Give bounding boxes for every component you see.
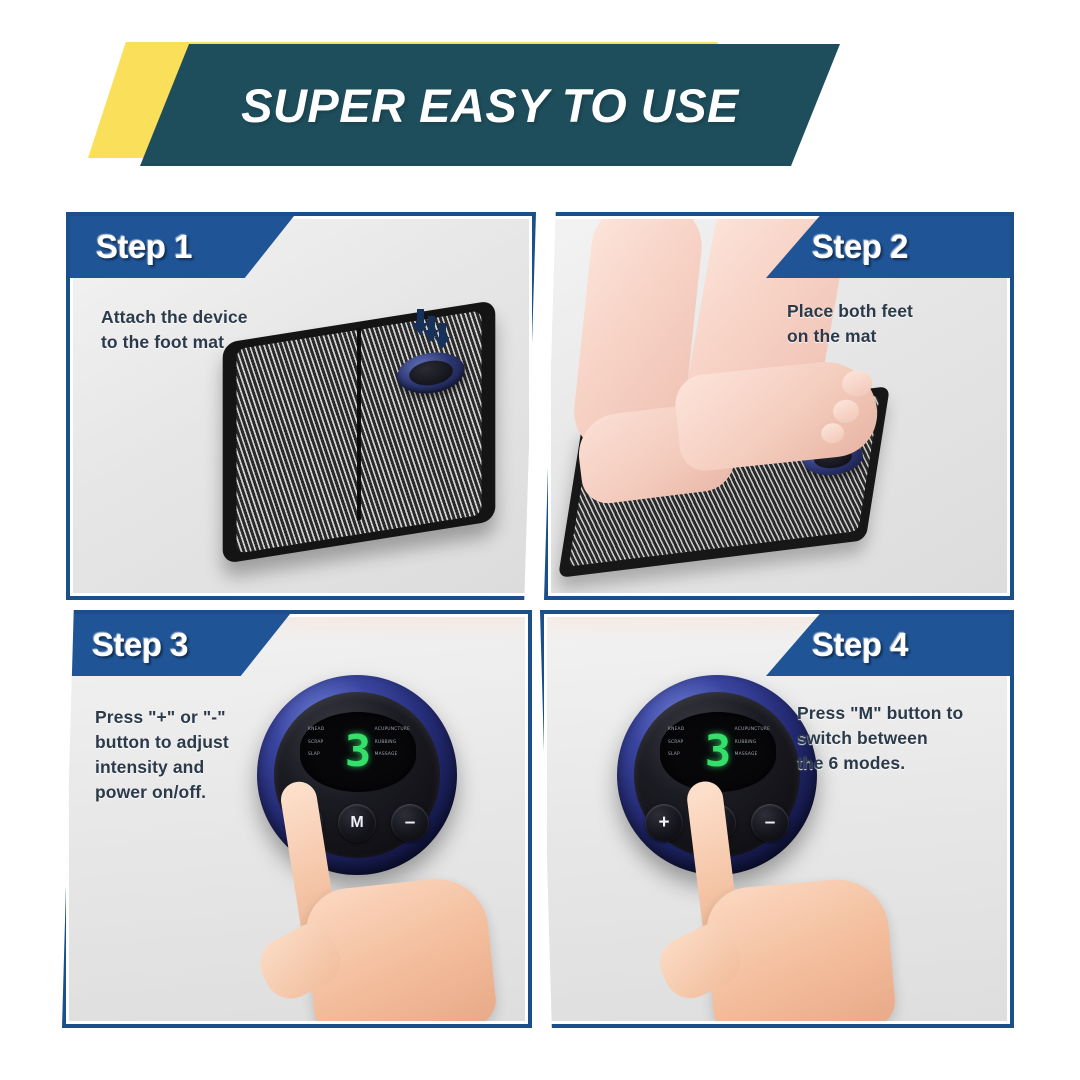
mode-label: KNEAD bbox=[668, 727, 684, 733]
step-2-panel: Place both feet on the mat Step 2 bbox=[544, 212, 1014, 600]
mode-labels-left: KNEAD SCRAP SLAP bbox=[668, 727, 684, 758]
step-2-label: Step 2 bbox=[812, 228, 908, 266]
mode-label: RUBBING bbox=[735, 740, 757, 746]
mode-label: MASSAGE bbox=[735, 752, 758, 758]
mode-label: MASSAGE bbox=[375, 752, 398, 758]
header-banner: SUPER EASY TO USE bbox=[0, 0, 1080, 200]
mode-labels-right: ACUPUNCTURE RUBBING MASSAGE bbox=[735, 727, 770, 758]
hand-pressing-plus bbox=[265, 795, 528, 1024]
step-3-photo: KNEAD SCRAP SLAP 3 ACUPUNCTURE RUBBING M… bbox=[69, 617, 525, 1021]
mode-label: ACUPUNCTURE bbox=[375, 727, 410, 733]
mode-label: SCRAP bbox=[308, 740, 323, 746]
controller-display: KNEAD SCRAP SLAP 3 ACUPUNCTURE RUBBING M… bbox=[660, 712, 776, 792]
mode-label: SLAP bbox=[308, 752, 320, 758]
steps-grid: Attach the device to the foot mat Step 1 bbox=[62, 212, 1018, 1032]
toe bbox=[841, 369, 874, 398]
mode-label: KNEAD bbox=[308, 727, 324, 733]
step-4-photo: KNEAD SCRAP SLAP 3 ACUPUNCTURE RUBBING M… bbox=[547, 617, 1007, 1021]
mode-labels-left: KNEAD SCRAP SLAP bbox=[308, 727, 324, 758]
foot-mat-graphic bbox=[215, 305, 515, 577]
toe bbox=[832, 398, 860, 424]
mode-label: SCRAP bbox=[668, 740, 683, 746]
step-4-panel: KNEAD SCRAP SLAP 3 ACUPUNCTURE RUBBING M… bbox=[540, 610, 1014, 1028]
mode-label: SLAP bbox=[668, 752, 680, 758]
step-3-panel: KNEAD SCRAP SLAP 3 ACUPUNCTURE RUBBING M… bbox=[62, 610, 532, 1028]
controller-puck-face bbox=[407, 358, 454, 389]
mat-center-split bbox=[357, 327, 361, 520]
step-3-label: Step 3 bbox=[92, 626, 188, 664]
mode-labels-right: ACUPUNCTURE RUBBING MASSAGE bbox=[375, 727, 410, 758]
down-arrows-group bbox=[417, 309, 439, 323]
step-4-label: Step 4 bbox=[812, 626, 908, 664]
intensity-level-digit: 3 bbox=[705, 730, 732, 774]
toe bbox=[820, 422, 845, 444]
banner-title: SUPER EASY TO USE bbox=[140, 44, 840, 166]
step-4-caption: Press "M" button to switch between the 6… bbox=[797, 701, 963, 776]
mode-label: RUBBING bbox=[375, 740, 397, 746]
step-3-caption: Press "+" or "-" button to adjust intens… bbox=[95, 705, 229, 804]
step-1-caption: Attach the device to the foot mat bbox=[101, 305, 248, 355]
mode-label: ACUPUNCTURE bbox=[735, 727, 770, 733]
intensity-level-digit: 3 bbox=[345, 730, 372, 774]
hand-pressing-mode bbox=[665, 795, 965, 1024]
mat-base bbox=[223, 300, 496, 564]
step-1-label: Step 1 bbox=[96, 228, 192, 266]
step-1-panel: Attach the device to the foot mat Step 1 bbox=[66, 212, 536, 600]
step-2-caption: Place both feet on the mat bbox=[787, 299, 913, 349]
controller-display: KNEAD SCRAP SLAP 3 ACUPUNCTURE RUBBING M… bbox=[300, 712, 416, 792]
